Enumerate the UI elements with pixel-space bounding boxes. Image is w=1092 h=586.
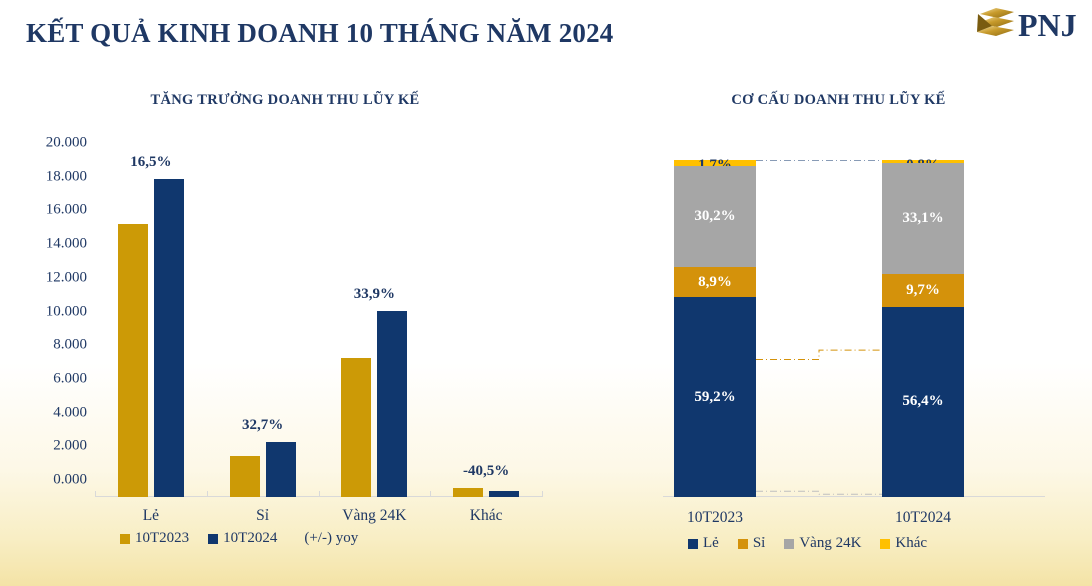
legend-label: Sỉ [753,535,766,552]
bar-10t2023[interactable] [118,224,148,497]
legend-swatch-icon [738,539,748,549]
x-axis-tick-label: Khác [430,507,542,525]
y-axis-tick-label: 4.000 [53,404,87,421]
bar-10t2024[interactable] [154,179,184,497]
y-axis-tick-label: 10.000 [46,303,87,320]
pnj-logo-text: PNJ [1018,7,1077,43]
y-axis-tick-label: 6.000 [53,370,87,387]
stack-segment-vàng-24k[interactable]: 33,1% [882,163,964,275]
y-axis-tick-label: 8.000 [53,337,87,354]
stack-segment-lẻ[interactable]: 59,2% [674,297,756,497]
revenue-mix-panel: CƠ CẤU DOANH THU LŨY KẾ 1,7%30,2%8,9%59,… [585,92,1092,586]
y-axis-tick-label: 20.000 [46,135,87,152]
page-title: KẾT QUẢ KINH DOANH 10 THÁNG NĂM 2024 [26,18,614,49]
segment-value-label: 33,1% [902,211,943,226]
bar-group: Khác [430,160,542,497]
y-axis-tick-label: 2.000 [53,438,87,455]
legend-label: Khác [895,535,927,552]
left-chart-title: TĂNG TRƯỞNG DOANH THU LŨY KẾ [0,92,570,109]
bar-group: Sỉ [207,160,319,497]
bar-10t2023[interactable] [453,488,483,497]
y-axis-tick-label: 16.000 [46,202,87,219]
bar-group: Lẻ [95,160,207,497]
stacked-bar: 0,8%33,1%9,7%56,4%10T2024 [882,160,964,497]
segment-value-label: 8,9% [698,275,732,290]
stack-segment-lẻ[interactable]: 56,4% [882,307,964,497]
legend-item-vang24k[interactable]: Vàng 24K [784,535,861,552]
stacked-bar: 1,7%30,2%8,9%59,2%10T2023 [674,160,756,497]
y-axis-tick-label: 12.000 [46,269,87,286]
pnj-diamond-icon [977,8,1014,36]
bar-10t2024[interactable] [489,491,519,497]
legend-label: Lẻ [703,535,719,552]
segment-value-label: 30,2% [694,209,735,224]
legend-swatch-icon [784,539,794,549]
legend-swatch-icon [120,534,130,544]
stack-segment-sỉ[interactable]: 9,7% [882,274,964,307]
stack-segment-sỉ[interactable]: 8,9% [674,267,756,297]
bar-10t2024[interactable] [266,442,296,497]
legend-item-khac[interactable]: Khác [880,535,927,552]
x-axis-tick-mark [542,491,543,497]
segment-value-label: 9,7% [906,283,940,298]
segment-value-label: 56,4% [902,394,943,409]
legend-item-si[interactable]: Sỉ [738,535,766,552]
legend-item-10t2024[interactable]: 10T2024 [208,530,277,547]
legend-label: Vàng 24K [799,535,861,552]
legend-label: 10T2024 [223,530,277,547]
legend-yoy-note: (+/-) yoy [304,530,358,547]
segment-value-label: 59,2% [694,390,735,405]
legend-item-10t2023[interactable]: 10T2023 [120,530,189,547]
right-chart-title: CƠ CẤU DOANH THU LŨY KẾ [585,92,1092,109]
y-axis-tick-label: 0.000 [53,472,87,489]
legend-swatch-icon [880,539,890,549]
x-axis-tick-label: 10T2023 [674,509,756,527]
bar-group: Vàng 24K [319,160,431,497]
bar-10t2023[interactable] [341,358,371,497]
legend-label: 10T2023 [135,530,189,547]
bar-10t2023[interactable] [230,456,260,497]
revenue-mix-chart: 1,7%30,2%8,9%59,2%10T20230,8%33,1%9,7%56… [663,160,1045,497]
legend-item-le[interactable]: Lẻ [688,535,719,552]
pnj-logo: PNJ [966,2,1084,50]
legend-swatch-icon [208,534,218,544]
x-axis-tick-label: Lẻ [95,507,207,525]
x-axis-tick-label: 10T2024 [882,509,964,527]
revenue-growth-chart: 0.0002.0004.0006.0008.00010.00012.00014.… [95,160,542,497]
y-axis-tick-label: 14.000 [46,236,87,253]
legend-swatch-icon [688,539,698,549]
right-chart-legend: Lẻ Sỉ Vàng 24K Khác [688,535,939,552]
x-axis-tick-label: Sỉ [207,507,319,525]
left-chart-legend: 10T2023 10T2024 (+/-) yoy [120,530,358,547]
x-axis-tick-label: Vàng 24K [319,507,431,525]
revenue-growth-panel: TĂNG TRƯỞNG DOANH THU LŨY KẾ 0.0002.0004… [0,92,570,586]
y-axis-tick-label: 18.000 [46,168,87,185]
bar-10t2024[interactable] [377,311,407,497]
stack-segment-vàng-24k[interactable]: 30,2% [674,166,756,268]
